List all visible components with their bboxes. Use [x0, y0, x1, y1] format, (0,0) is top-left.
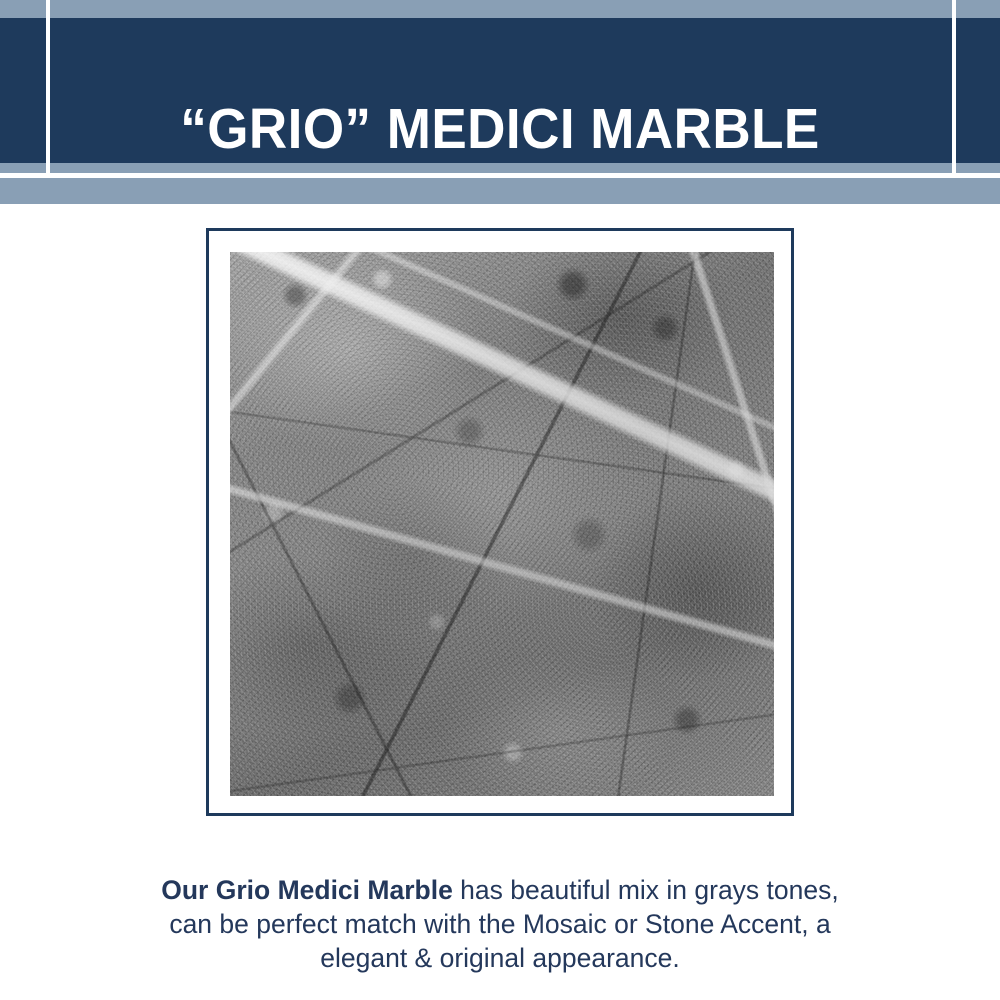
description-line-1-rest: has beautiful mix in grays tones,: [453, 875, 839, 905]
product-description: Our Grio Medici Marble has beautiful mix…: [80, 873, 920, 975]
page-title: “GRIO” MEDICI MARBLE: [35, 56, 965, 201]
page-header: “GRIO” MEDICI MARBLE: [0, 0, 1000, 205]
product-image-frame: [206, 228, 794, 816]
marble-swatch-image: [230, 252, 774, 796]
header-band-top: [0, 0, 1000, 18]
description-line-2: can be perfect match with the Mosaic or …: [169, 909, 830, 939]
marble-shading-layer: [230, 252, 774, 796]
description-line-3: elegant & original appearance.: [320, 943, 679, 973]
description-lead: Our Grio Medici Marble: [161, 875, 453, 905]
